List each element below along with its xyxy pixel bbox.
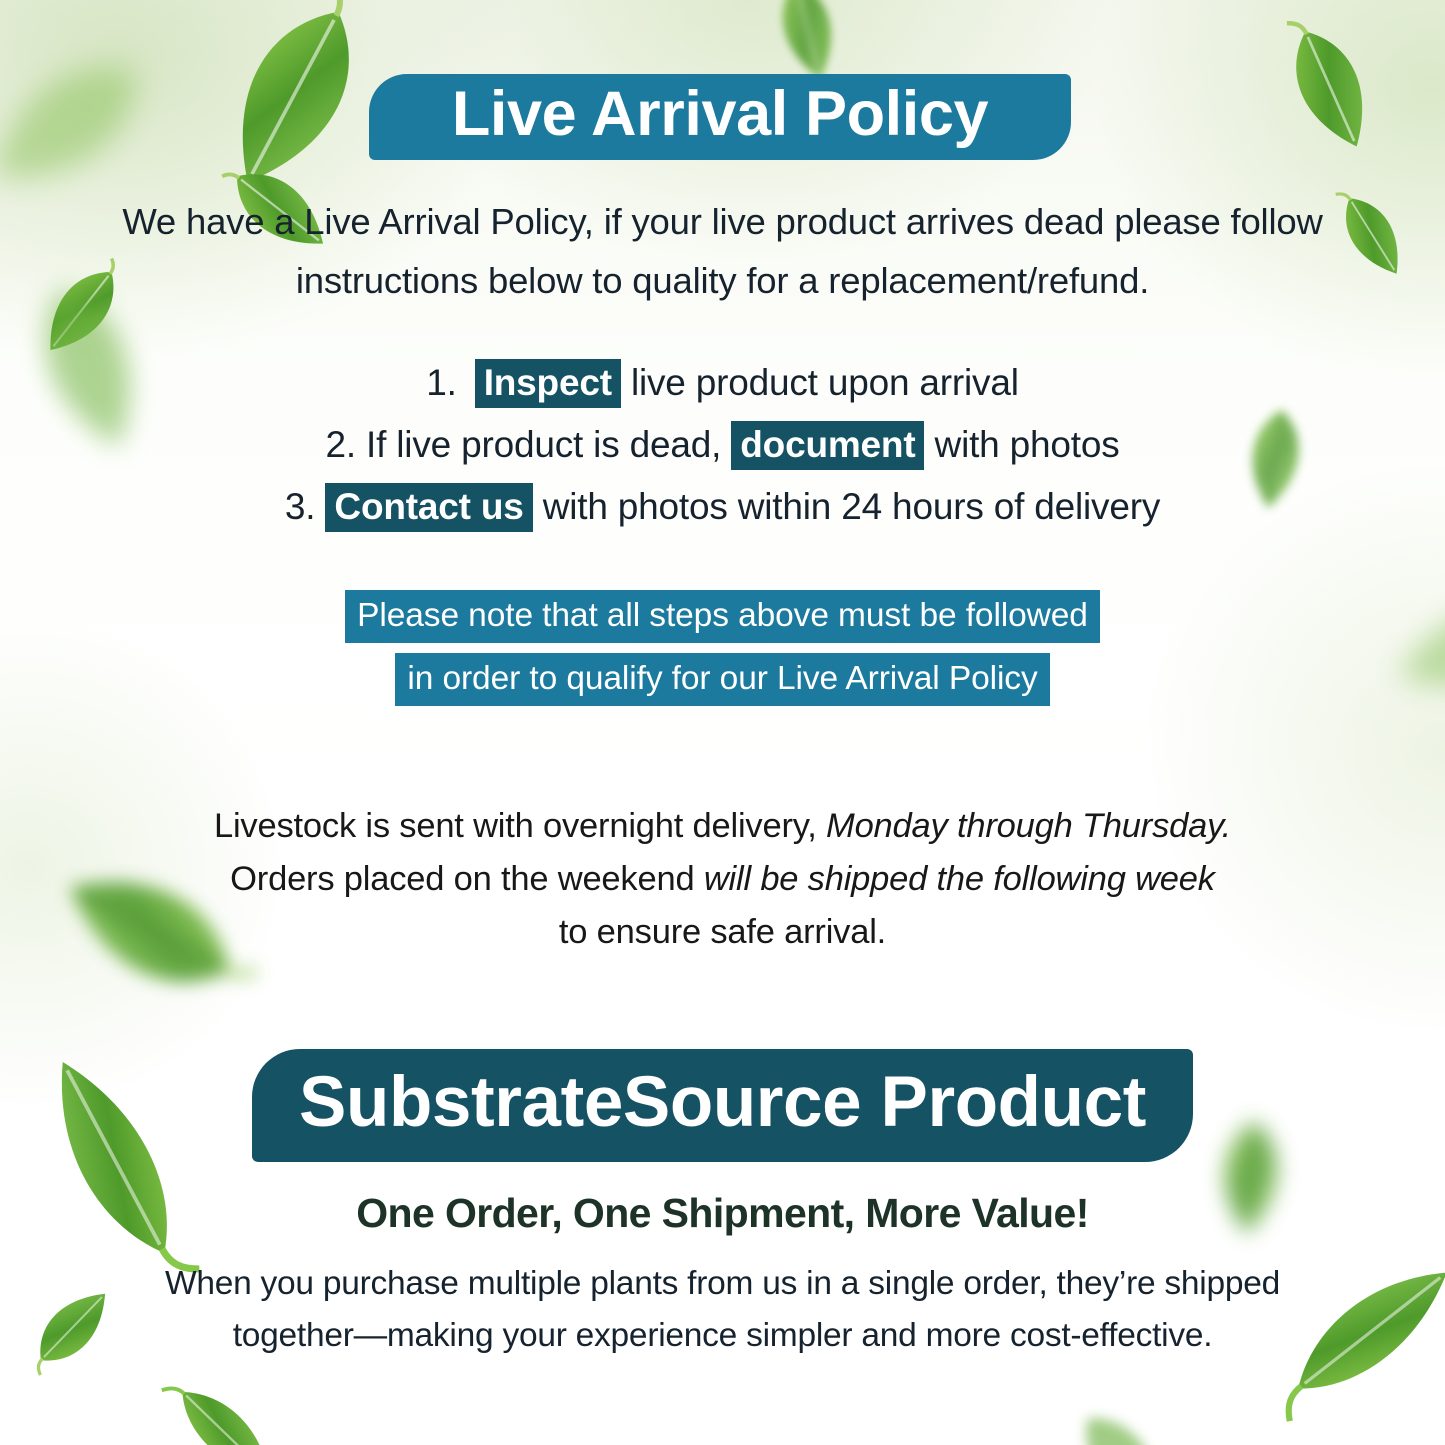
substratesource-product-banner: SubstrateSource Product	[252, 1049, 1193, 1162]
policy-step-3-highlight[interactable]: Contact us	[325, 483, 532, 532]
shipping-line-2-text: Orders placed on the weekend	[230, 860, 694, 898]
shipping-line-1-italic: Monday through Thursday.	[826, 807, 1231, 845]
policy-step-1-after: live product upon arrival	[631, 362, 1019, 403]
policy-step-2-number: 2.	[325, 424, 355, 465]
policy-intro-paragraph: We have a Live Arrival Policy, if your l…	[0, 192, 1445, 310]
shipping-schedule-paragraph: Livestock is sent with overnight deliver…	[0, 800, 1445, 959]
value-proposition-paragraph: When you purchase multiple plants from u…	[0, 1258, 1445, 1362]
shipping-line-1-text: Livestock is sent with overnight deliver…	[214, 807, 817, 845]
policy-note-block: Please note that all steps above must be…	[0, 584, 1445, 710]
shipping-line-2: Orders placed on the weekend will be shi…	[0, 853, 1445, 906]
value-proposition-heading: One Order, One Shipment, More Value!	[0, 1190, 1445, 1237]
policy-step-2-highlight: document	[731, 421, 924, 470]
policy-step-3: 3. Contact us with photos within 24 hour…	[0, 476, 1445, 538]
policy-note-line-1: Please note that all steps above must be…	[345, 590, 1100, 643]
policy-step-1-highlight: Inspect	[475, 359, 621, 408]
policy-step-3-after: with photos within 24 hours of delivery	[543, 486, 1160, 527]
value-body-line-1: When you purchase multiple plants from u…	[0, 1258, 1445, 1310]
policy-step-2-before: If live product is dead,	[366, 424, 721, 465]
shipping-line-2-italic: will be shipped the following week	[704, 860, 1215, 898]
policy-note-line-1-wrap: Please note that all steps above must be…	[0, 584, 1445, 647]
policy-step-1: 1.Inspect live product upon arrival	[0, 352, 1445, 414]
policy-step-3-number: 3.	[285, 486, 315, 527]
policy-note-line-2-wrap: in order to qualify for our Live Arrival…	[0, 647, 1445, 710]
page-content: Live Arrival Policy We have a Live Arriv…	[0, 0, 1445, 1445]
shipping-line-1: Livestock is sent with overnight deliver…	[0, 800, 1445, 853]
policy-step-2: 2. If live product is dead, document wit…	[0, 414, 1445, 476]
shipping-line-3: to ensure safe arrival.	[0, 906, 1445, 959]
value-body-line-2: together—making your experience simpler …	[0, 1310, 1445, 1362]
policy-intro-line-1: We have a Live Arrival Policy, if your l…	[0, 192, 1445, 251]
policy-steps-list: 1.Inspect live product upon arrival 2. I…	[0, 352, 1445, 538]
live-arrival-policy-banner: Live Arrival Policy	[369, 74, 1071, 160]
policy-step-1-number: 1.	[426, 362, 456, 403]
policy-intro-line-2: instructions below to quality for a repl…	[0, 251, 1445, 310]
policy-note-line-2: in order to qualify for our Live Arrival…	[395, 653, 1049, 706]
policy-step-2-after: with photos	[935, 424, 1120, 465]
